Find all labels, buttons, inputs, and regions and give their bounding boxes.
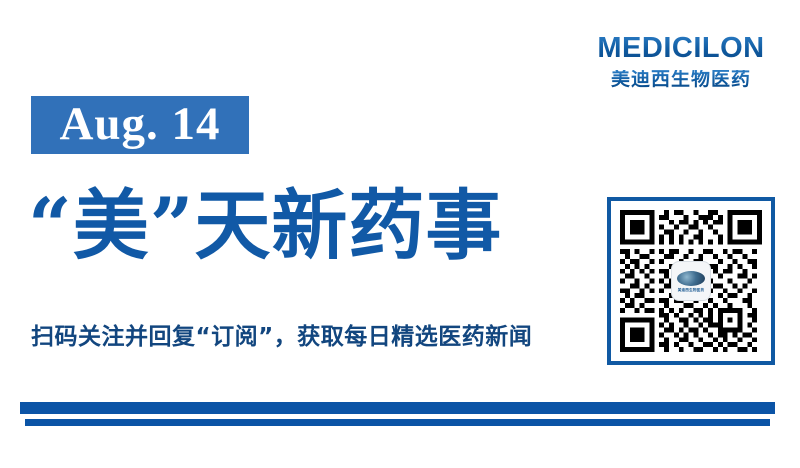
date-badge: Aug. 14 <box>31 96 249 154</box>
subtitle: 扫码关注并回复“订阅”，获取每日精选医药新闻 <box>31 324 601 352</box>
qr-code-frame: 美迪西生物医药 <box>607 197 775 365</box>
bottom-rule-thin <box>25 419 770 426</box>
bottom-rule-thick <box>20 402 775 414</box>
qr-center-logo-caption: 美迪西生物医药 <box>678 288 705 293</box>
headline: “美”天新药事 <box>28 186 588 266</box>
brand-name: MEDICILON <box>586 34 776 63</box>
brand-logo: MEDICILON 美迪西生物医药 <box>586 34 776 89</box>
qr-code: 美迪西生物医药 <box>620 210 762 352</box>
date-badge-label: Aug. 14 <box>59 101 220 148</box>
qr-center-logo: 美迪西生物医药 <box>672 262 710 300</box>
promo-banner: MEDICILON 美迪西生物医药 Aug. 14 “美”天新药事 扫码关注并回… <box>0 0 800 468</box>
brand-name-chinese: 美迪西生物医药 <box>586 70 776 89</box>
qr-center-logo-mark <box>677 271 705 286</box>
